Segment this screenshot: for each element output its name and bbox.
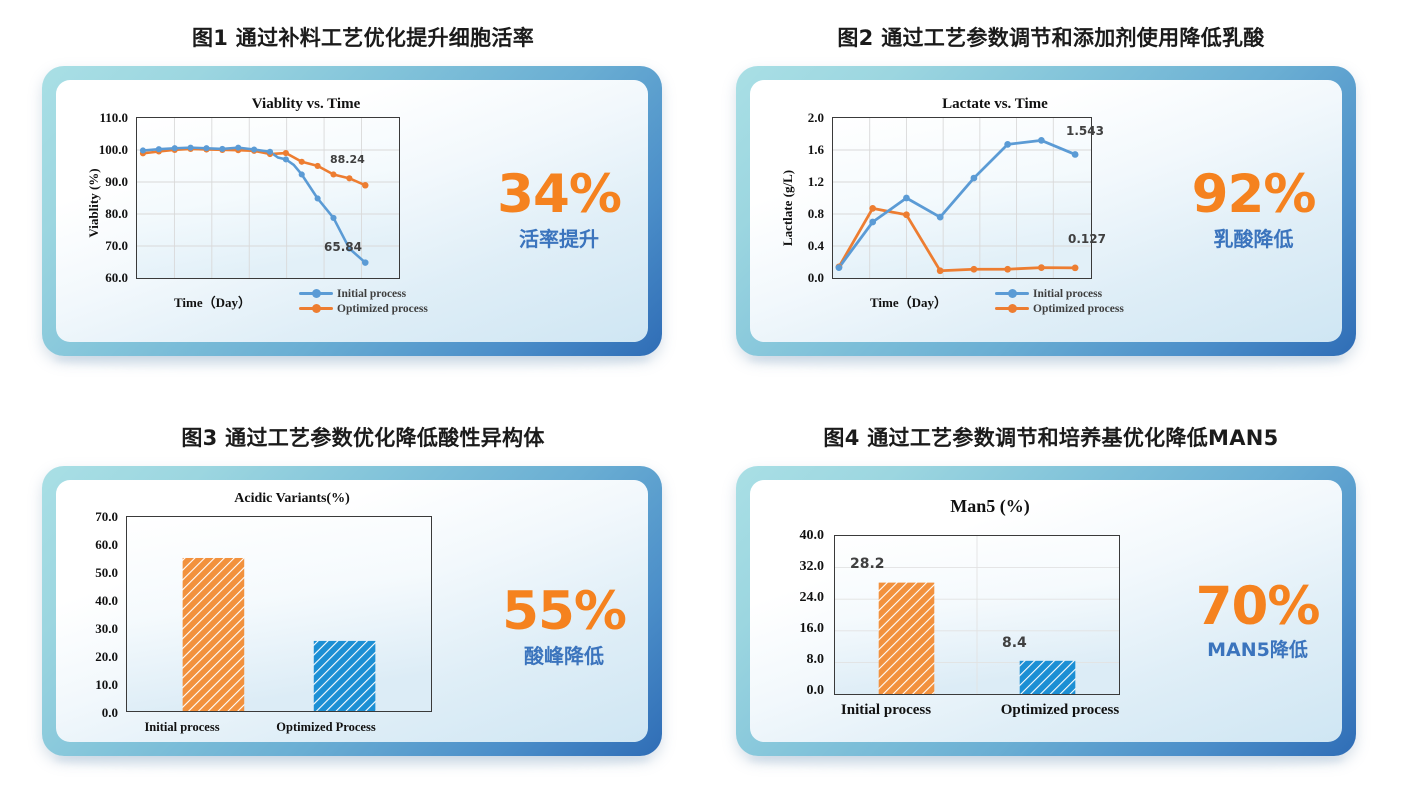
chart-2-ytick-1: 1.6 — [776, 142, 824, 158]
chart-2-ytick-3: 0.8 — [776, 206, 824, 222]
panel-4-callout: 70% MAN5降低 — [1170, 580, 1342, 661]
panel-4-frame: Man5 (%) 40.0 32.0 24.0 16.0 8.0 0.0 — [736, 466, 1356, 756]
chart-1-title: Viablity vs. Time — [126, 96, 486, 113]
chart-3: Acidic Variants(%) 70.0 60.0 50.0 40.0 3… — [56, 480, 648, 742]
chart-3-ytick-7: 0.0 — [62, 705, 118, 721]
panel-1-frame: Viablity vs. Time Viablity (%) 110.0 100… — [42, 66, 662, 356]
legend-item-optimized[interactable]: Optimized process — [299, 301, 428, 316]
chart-2: Lactate vs. Time Lactlate (g/L) 2.0 1.6 … — [750, 80, 1342, 342]
chart-4-value-label-0: 28.2 — [850, 556, 885, 572]
chart-1: Viablity vs. Time Viablity (%) 110.0 100… — [56, 80, 648, 342]
chart-1-ytick-3: 80.0 — [70, 206, 128, 222]
panel-lactate: 图2 通过工艺参数调节和添加剂使用降低乳酸 Lactate vs. Time L… — [706, 22, 1396, 372]
panel-2-callout: 92% 乳酸降低 — [1166, 168, 1341, 250]
legend-line-blue-icon — [299, 286, 333, 301]
chart-3-ytick-3: 40.0 — [62, 593, 118, 609]
panel-1-callout-percent: 34% — [474, 168, 644, 221]
chart-3-ytick-0: 70.0 — [62, 509, 118, 525]
chart-3-category-1: Optimized Process — [236, 720, 416, 735]
chart-3-ytick-6: 10.0 — [62, 677, 118, 693]
panel-man5: 图4 通过工艺参数调节和培养基优化降低MAN5 Man5 (%) 40.0 32… — [706, 422, 1396, 772]
panel-2-callout-caption: 乳酸降低 — [1166, 228, 1341, 250]
chart-1-ytick-1: 100.0 — [70, 142, 128, 158]
chart-4-ytick-0: 40.0 — [762, 528, 824, 544]
panel-3-card: Acidic Variants(%) 70.0 60.0 50.0 40.0 3… — [56, 480, 648, 742]
chart-1-annotation-88: 88.24 — [330, 153, 365, 166]
chart-1-ytick-0: 110.0 — [70, 110, 128, 126]
panel-4-title: 图4 通过工艺参数调节和培养基优化降低MAN5 — [706, 422, 1396, 452]
chart-2-ytick-0: 2.0 — [776, 110, 824, 126]
panel-2-title: 图2 通过工艺参数调节和添加剂使用降低乳酸 — [706, 22, 1396, 52]
chart-2-ytick-2: 1.2 — [776, 174, 824, 190]
chart-4-category-1: Optimized process — [965, 702, 1155, 719]
panel-3-title: 图3 通过工艺参数优化降低酸性异构体 — [18, 422, 708, 452]
panel-2-callout-percent: 92% — [1166, 168, 1341, 221]
legend-label-optimized: Optimized process — [337, 303, 428, 315]
chart-4-category-0: Initial process — [806, 702, 966, 719]
chart-3-ytick-5: 20.0 — [62, 649, 118, 665]
panel-3-callout-caption: 酸峰降低 — [474, 645, 648, 667]
legend-label-initial: Initial process — [337, 288, 406, 300]
chart-1-plot-area — [136, 117, 400, 279]
legend-line-orange-icon — [299, 301, 333, 316]
panel-1-callout: 34% 活率提升 — [474, 168, 644, 250]
chart-2-plot-area — [832, 117, 1092, 279]
panel-3-callout: 55% 酸峰降低 — [474, 585, 648, 667]
panel-1-callout-caption: 活率提升 — [474, 228, 644, 250]
chart-2-annotation-0127: 0.127 — [1068, 232, 1106, 246]
panel-viability: 图1 通过补料工艺优化提升细胞活率 Viablity vs. Time Viab… — [18, 22, 708, 372]
panel-acidic-variants: 图3 通过工艺参数优化降低酸性异构体 Acidic Variants(%) 70… — [18, 422, 708, 772]
chart-4-title: Man5 (%) — [850, 496, 1130, 517]
chart-1-legend: Initial process Optimized process — [299, 286, 428, 316]
panel-2-frame: Lactate vs. Time Lactlate (g/L) 2.0 1.6 … — [736, 66, 1356, 356]
chart-3-title: Acidic Variants(%) — [142, 491, 442, 507]
chart-2-ytick-4: 0.4 — [776, 238, 824, 254]
legend-line-blue-icon — [995, 286, 1029, 301]
chart-1-ytick-2: 90.0 — [70, 174, 128, 190]
panel-3-frame: Acidic Variants(%) 70.0 60.0 50.0 40.0 3… — [42, 466, 662, 756]
chart-4: Man5 (%) 40.0 32.0 24.0 16.0 8.0 0.0 — [750, 480, 1342, 742]
panel-4-callout-caption: MAN5降低 — [1170, 640, 1342, 661]
chart-1-ytick-5: 60.0 — [70, 270, 128, 286]
chart-3-ytick-1: 60.0 — [62, 537, 118, 553]
panel-1-card: Viablity vs. Time Viablity (%) 110.0 100… — [56, 80, 648, 342]
slide-board: 图1 通过补料工艺优化提升细胞活率 Viablity vs. Time Viab… — [0, 0, 1406, 788]
panel-1-title: 图1 通过补料工艺优化提升细胞活率 — [18, 22, 708, 52]
chart-3-plot-area — [126, 516, 432, 712]
panel-2-card: Lactate vs. Time Lactlate (g/L) 2.0 1.6 … — [750, 80, 1342, 342]
legend-item-initial[interactable]: Initial process — [299, 286, 428, 301]
chart-4-ytick-3: 16.0 — [762, 621, 824, 637]
panel-4-card: Man5 (%) 40.0 32.0 24.0 16.0 8.0 0.0 — [750, 480, 1342, 742]
chart-4-ytick-2: 24.0 — [762, 590, 824, 606]
chart-4-ytick-1: 32.0 — [762, 559, 824, 575]
legend-label-initial: Initial process — [1033, 288, 1102, 300]
chart-2-annotation-1543: 1.543 — [1066, 124, 1104, 138]
chart-1-xlabel: Time（Day） — [174, 292, 251, 311]
chart-4-ytick-4: 8.0 — [762, 652, 824, 668]
panel-4-callout-percent: 70% — [1170, 580, 1342, 633]
chart-2-xlabel: Time（Day） — [870, 292, 947, 311]
panel-3-callout-percent: 55% — [474, 585, 648, 638]
legend-item-initial[interactable]: Initial process — [995, 286, 1124, 301]
chart-3-ytick-4: 30.0 — [62, 621, 118, 637]
chart-4-value-label-1: 8.4 — [1002, 635, 1027, 651]
chart-3-ytick-2: 50.0 — [62, 565, 118, 581]
chart-2-legend: Initial process Optimized process — [995, 286, 1124, 316]
chart-2-ytick-5: 0.0 — [776, 270, 824, 286]
chart-4-ytick-5: 0.0 — [762, 683, 824, 699]
legend-line-orange-icon — [995, 301, 1029, 316]
chart-1-ytick-4: 70.0 — [70, 238, 128, 254]
chart-2-title: Lactate vs. Time — [820, 96, 1170, 113]
legend-item-optimized[interactable]: Optimized process — [995, 301, 1124, 316]
chart-3-category-0: Initial process — [108, 720, 256, 735]
legend-label-optimized: Optimized process — [1033, 303, 1124, 315]
chart-1-annotation-65: 65.84 — [324, 240, 362, 254]
